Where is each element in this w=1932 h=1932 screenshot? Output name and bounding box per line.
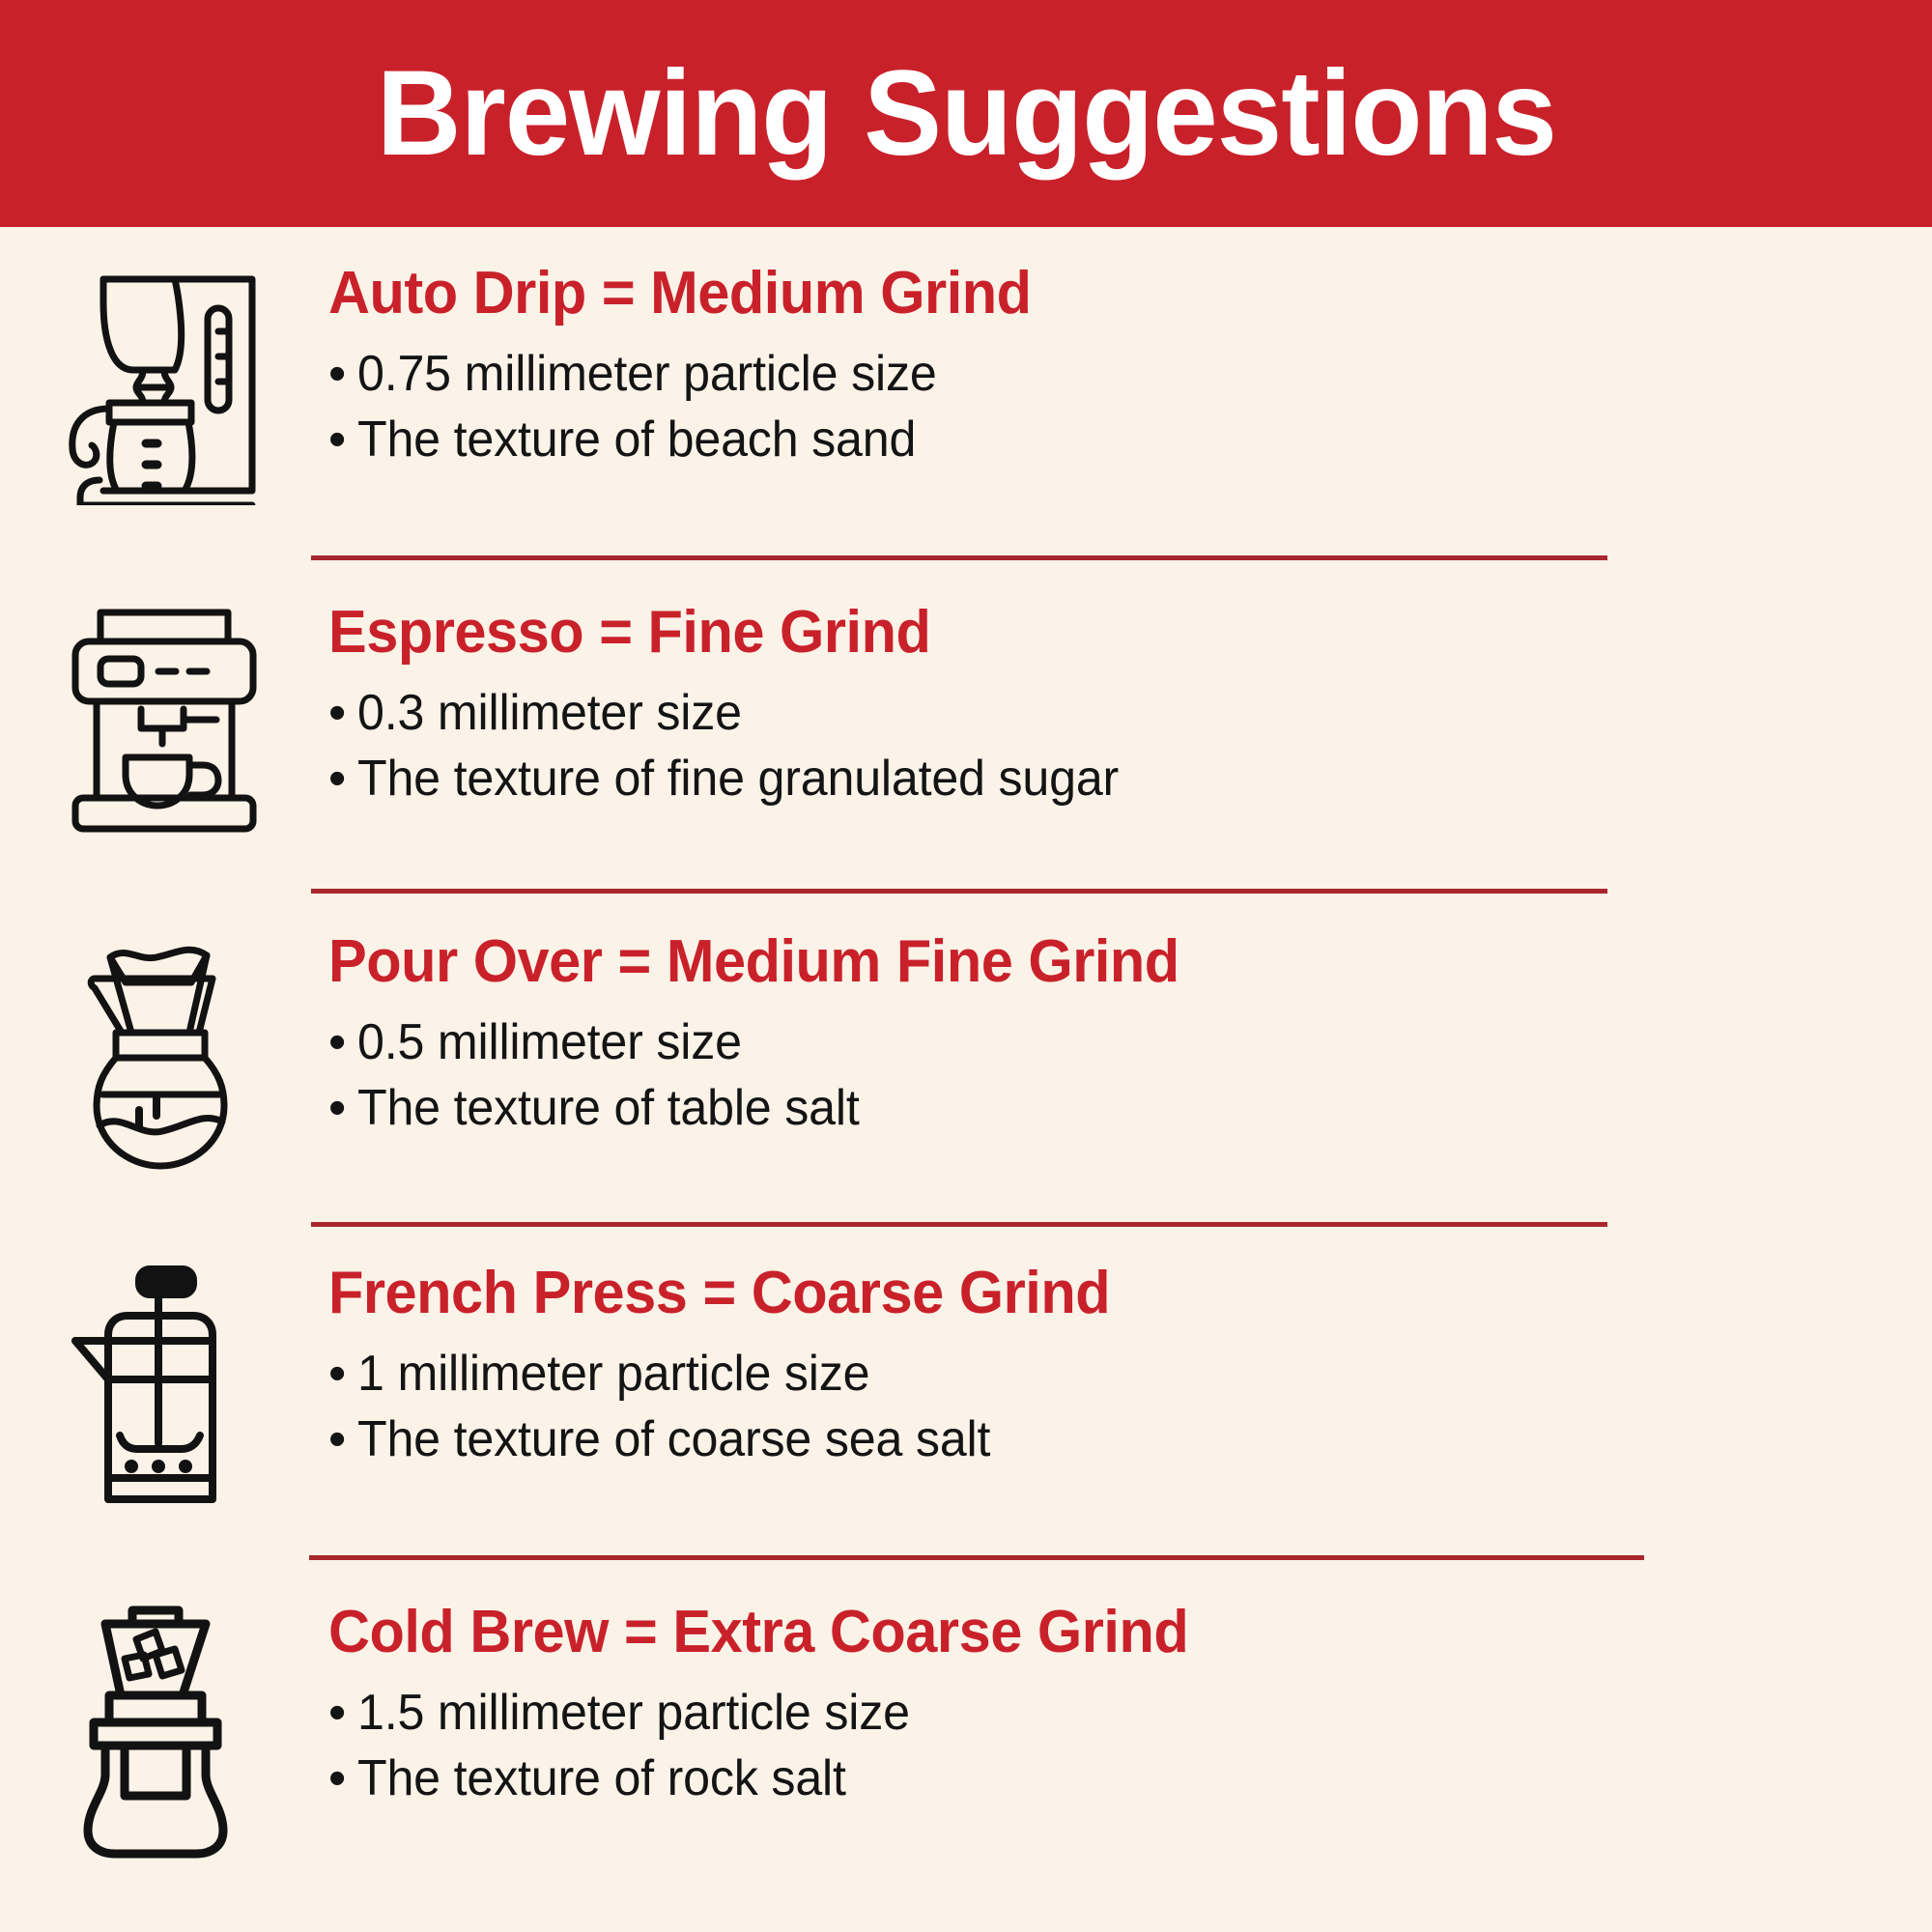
espresso-text-block: Espresso = Fine Grind • 0.3 millimeter s…	[328, 595, 1932, 812]
brewing-method-auto-drip: Auto Drip = Medium Grind • 0.75 millimet…	[0, 227, 1932, 555]
brewing-method-list: Auto Drip = Medium Grind • 0.75 millimet…	[0, 227, 1932, 1889]
cold-brew-text-block: Cold Brew = Extra Coarse Grind • 1.5 mil…	[328, 1595, 1932, 1812]
auto-drip-title: Auto Drip = Medium Grind	[328, 260, 1831, 327]
cold-brew-title: Cold Brew = Extra Coarse Grind	[328, 1599, 1831, 1665]
bullet-icon: •	[328, 1407, 357, 1473]
page-title: Brewing Suggestions	[376, 53, 1555, 174]
espresso-bullets: • 0.3 millimeter size • The texture of f…	[328, 681, 1893, 811]
espresso-title: Espresso = Fine Grind	[328, 599, 1831, 666]
french-press-icon	[0, 1256, 328, 1520]
bullet-icon: •	[328, 1747, 357, 1812]
bullet-label: The texture of table salt	[357, 1076, 860, 1142]
pour-over-bullets: • 0.5 millimeter size • The texture of t…	[328, 1010, 1893, 1141]
french-press-text-block: French Press = Coarse Grind • 1 millimet…	[328, 1256, 1932, 1473]
list-item: • The texture of table salt	[328, 1076, 1893, 1142]
auto-drip-coffee-maker-icon	[0, 256, 328, 505]
bullet-label: The texture of coarse sea salt	[357, 1407, 990, 1473]
cold-brew-tower-icon	[0, 1595, 328, 1859]
list-item: • The texture of fine granulated sugar	[328, 747, 1893, 812]
bullet-icon: •	[328, 1681, 357, 1747]
french-press-title: French Press = Coarse Grind	[328, 1260, 1831, 1326]
auto-drip-bullets: • 0.75 millimeter particle size • The te…	[328, 342, 1893, 472]
bullet-label: 0.75 millimeter particle size	[357, 342, 937, 408]
list-item: • 1.5 millimeter particle size	[328, 1681, 1893, 1747]
bullet-label: The texture of beach sand	[357, 408, 916, 473]
bullet-label: 1.5 millimeter particle size	[357, 1681, 910, 1747]
bullet-label: The texture of fine granulated sugar	[357, 747, 1119, 812]
bullet-icon: •	[328, 1076, 357, 1142]
bullet-icon: •	[328, 1010, 357, 1076]
brewing-method-french-press: French Press = Coarse Grind • 1 millimet…	[0, 1227, 1932, 1555]
bullet-label: 0.5 millimeter size	[357, 1010, 742, 1076]
auto-drip-text-block: Auto Drip = Medium Grind • 0.75 millimet…	[328, 256, 1932, 473]
list-item: • The texture of rock salt	[328, 1747, 1893, 1812]
bullet-icon: •	[328, 342, 357, 408]
brewing-method-pour-over: Pour Over = Medium Fine Grind • 0.5 mill…	[0, 894, 1932, 1222]
list-item: • 0.3 millimeter size	[328, 681, 1893, 747]
bullet-icon: •	[328, 408, 357, 473]
bullet-label: The texture of rock salt	[357, 1747, 846, 1812]
list-item: • The texture of coarse sea salt	[328, 1407, 1893, 1473]
list-item: • The texture of beach sand	[328, 408, 1893, 473]
pour-over-title: Pour Over = Medium Fine Grind	[328, 928, 1831, 995]
list-item: • 0.5 millimeter size	[328, 1010, 1893, 1076]
pour-over-text-block: Pour Over = Medium Fine Grind • 0.5 mill…	[328, 924, 1932, 1142]
page-header-banner: Brewing Suggestions	[0, 0, 1932, 227]
brewing-method-espresso: Espresso = Fine Grind • 0.3 millimeter s…	[0, 560, 1932, 889]
french-press-bullets: • 1 millimeter particle size • The textu…	[328, 1342, 1893, 1472]
infographic-page: Brewing Suggestions	[0, 0, 1932, 1932]
cold-brew-bullets: • 1.5 millimeter particle size • The tex…	[328, 1681, 1893, 1811]
bullet-icon: •	[328, 1342, 357, 1407]
list-item: • 1 millimeter particle size	[328, 1342, 1893, 1407]
bullet-label: 0.3 millimeter size	[357, 681, 742, 747]
bullet-icon: •	[328, 681, 357, 747]
pour-over-chemex-icon	[0, 924, 328, 1174]
list-item: • 0.75 millimeter particle size	[328, 342, 1893, 408]
brewing-method-cold-brew: Cold Brew = Extra Coarse Grind • 1.5 mil…	[0, 1560, 1932, 1889]
bullet-label: 1 millimeter particle size	[357, 1342, 869, 1407]
bullet-icon: •	[328, 747, 357, 812]
espresso-machine-icon	[0, 595, 328, 835]
